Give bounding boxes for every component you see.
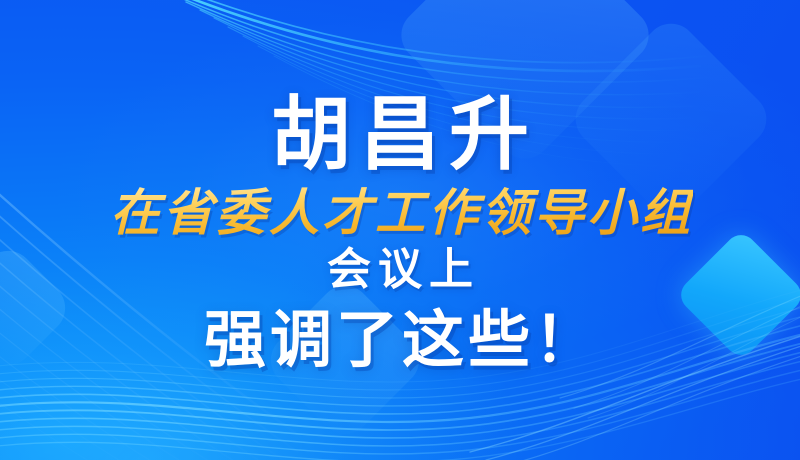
- headline-context-subtitle: 会议上: [320, 244, 480, 296]
- headline-punchline: 强调了这些！: [200, 306, 600, 376]
- news-banner: 胡昌升 在省委人才工作领导小组 会议上 强调了这些！: [0, 0, 800, 460]
- headline-block: 胡昌升 在省委人才工作领导小组 会议上 强调了这些！: [0, 0, 800, 460]
- headline-context-script: 在省委人才工作领导小组: [107, 184, 693, 242]
- headline-person-name: 胡昌升: [262, 92, 538, 178]
